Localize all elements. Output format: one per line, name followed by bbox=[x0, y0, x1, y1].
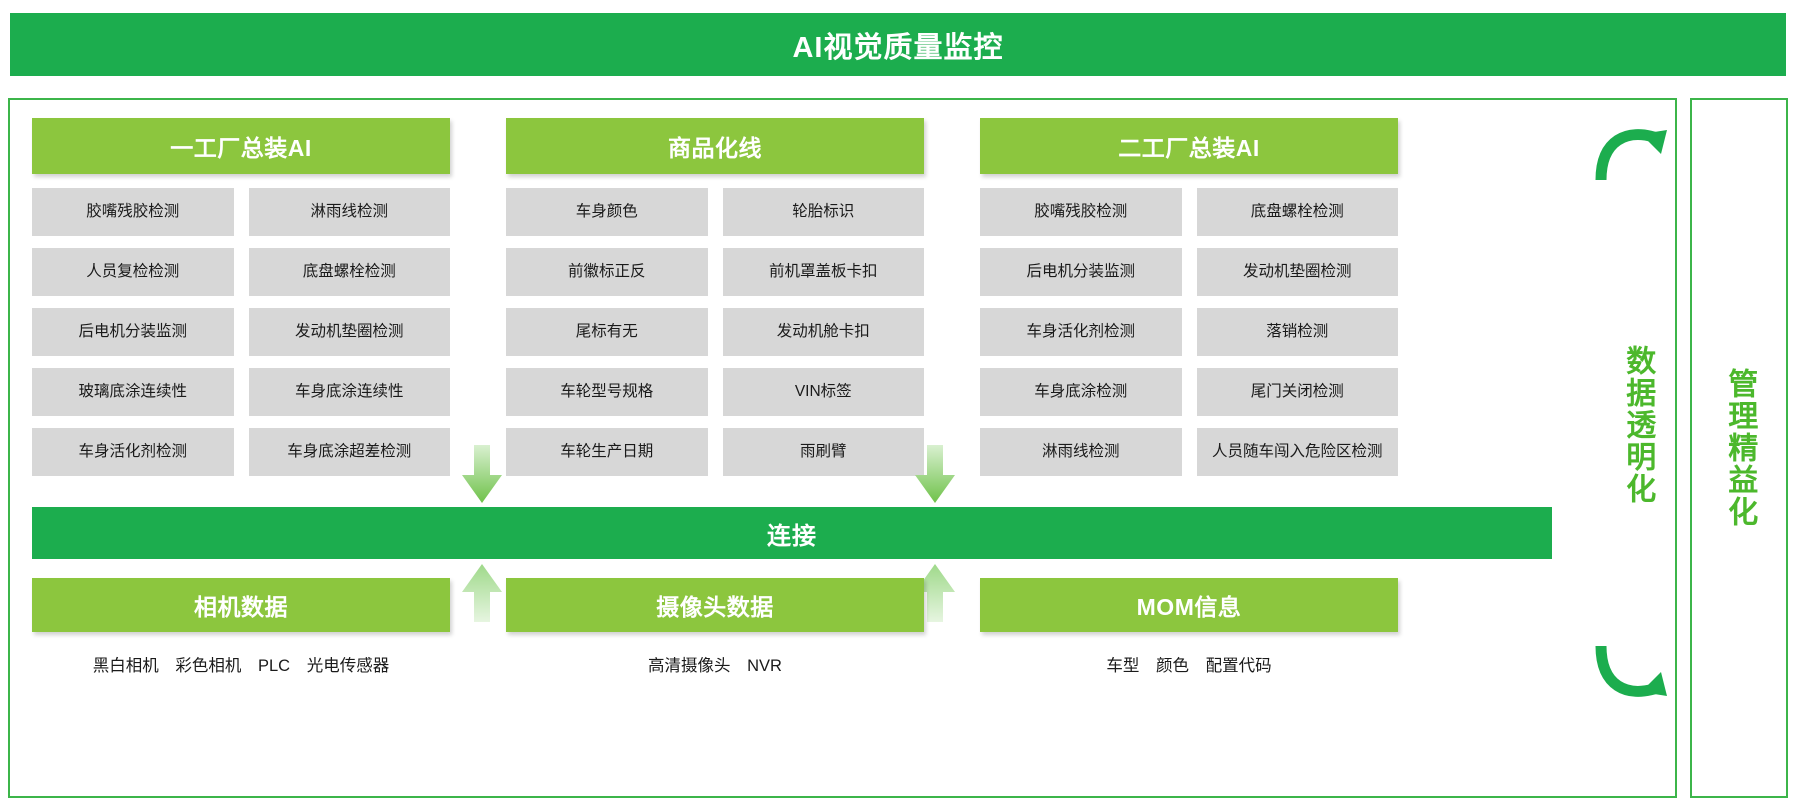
detection-cell[interactable]: 人员复检检测 bbox=[32, 248, 234, 296]
column-factory-two: 二工厂总装AI 胶嘴残胶检测 底盘螺栓检测 后电机分装监测 发动机垫圈检测 车身… bbox=[980, 118, 1398, 476]
detection-cell[interactable]: 底盘螺栓检测 bbox=[1197, 188, 1399, 236]
source-title: 相机数据 bbox=[194, 588, 288, 622]
detection-cell[interactable]: 雨刷臂 bbox=[723, 428, 925, 476]
column-factory-one: 一工厂总装AI 胶嘴残胶检测 淋雨线检测 人员复检检测 底盘螺栓检测 后电机分装… bbox=[32, 118, 450, 476]
detection-cell[interactable]: 车轮型号规格 bbox=[506, 368, 708, 416]
source-mom-information: MOM信息 车型 颜色 配置代码 bbox=[980, 578, 1398, 676]
detection-cell[interactable]: 落销检测 bbox=[1197, 308, 1399, 356]
arrow-down-icon bbox=[915, 445, 955, 503]
source-item: PLC bbox=[258, 657, 290, 675]
detection-cell[interactable]: 车身底涂检测 bbox=[980, 368, 1182, 416]
source-item-list: 高清摄像头 NVR bbox=[506, 652, 924, 676]
detection-cell[interactable]: VIN标签 bbox=[723, 368, 925, 416]
detection-cell[interactable]: 发动机舱卡扣 bbox=[723, 308, 925, 356]
source-item: 颜色 bbox=[1156, 657, 1189, 675]
column-title: 商品化线 bbox=[668, 129, 762, 163]
column-commercialization-line: 商品化线 车身颜色 轮胎标识 前徽标正反 前机罩盖板卡扣 尾标有无 发动机舱卡扣… bbox=[506, 118, 924, 476]
detection-cell[interactable]: 淋雨线检测 bbox=[980, 428, 1182, 476]
curved-arrow-bottom-icon bbox=[1593, 642, 1667, 704]
source-header-camera-data[interactable]: 相机数据 bbox=[32, 578, 450, 632]
source-title: MOM信息 bbox=[1137, 588, 1242, 622]
connect-bar-label: 连接 bbox=[767, 516, 817, 551]
source-title: 摄像头数据 bbox=[656, 588, 774, 622]
detection-cell[interactable]: 车身底涂超差检测 bbox=[249, 428, 451, 476]
source-item-list: 黑白相机 彩色相机 PLC 光电传感器 bbox=[32, 652, 450, 676]
source-item: 彩色相机 bbox=[175, 657, 241, 675]
cell-grid-factory-one: 胶嘴残胶检测 淋雨线检测 人员复检检测 底盘螺栓检测 后电机分装监测 发动机垫圈… bbox=[32, 188, 450, 476]
detection-cell[interactable]: 轮胎标识 bbox=[723, 188, 925, 236]
data-transparency-label: 数据透明化 bbox=[1609, 275, 1665, 575]
curved-arrow-top-icon bbox=[1593, 122, 1667, 184]
cell-grid-factory-two: 胶嘴残胶检测 底盘螺栓检测 后电机分装监测 发动机垫圈检测 车身活化剂检测 落销… bbox=[980, 188, 1398, 476]
source-item: NVR bbox=[747, 657, 782, 675]
detection-cell[interactable]: 车轮生产日期 bbox=[506, 428, 708, 476]
data-sources: 相机数据 黑白相机 彩色相机 PLC 光电传感器 摄像头数据 高清摄像头 NVR bbox=[32, 578, 1552, 676]
detection-cell[interactable]: 发动机垫圈检测 bbox=[1197, 248, 1399, 296]
column-title: 二工厂总装AI bbox=[1118, 129, 1260, 163]
detection-cell[interactable]: 后电机分装监测 bbox=[32, 308, 234, 356]
page-title: AI视觉质量监控 bbox=[792, 24, 1003, 66]
detection-cell[interactable]: 前机罩盖板卡扣 bbox=[723, 248, 925, 296]
source-video-camera-data: 摄像头数据 高清摄像头 NVR bbox=[506, 578, 924, 676]
main-frame: 数据透明化 一工厂总装AI 胶嘴残胶检测 淋雨线检测 人员复检检测 底盘螺栓检测… bbox=[8, 98, 1677, 798]
detection-cell[interactable]: 尾标有无 bbox=[506, 308, 708, 356]
source-item: 车型 bbox=[1106, 657, 1139, 675]
detection-cell[interactable]: 发动机垫圈检测 bbox=[249, 308, 451, 356]
column-header-factory-two[interactable]: 二工厂总装AI bbox=[980, 118, 1398, 174]
cell-grid-commercialization-line: 车身颜色 轮胎标识 前徽标正反 前机罩盖板卡扣 尾标有无 发动机舱卡扣 车轮型号… bbox=[506, 188, 924, 476]
detection-cell[interactable]: 车身活化剂检测 bbox=[32, 428, 234, 476]
diagram-page: AI视觉质量监控 数据透明化 一工厂总装AI 胶嘴残胶检测 bbox=[0, 0, 1796, 806]
detection-cell[interactable]: 底盘螺栓检测 bbox=[249, 248, 451, 296]
column-header-commercialization-line[interactable]: 商品化线 bbox=[506, 118, 924, 174]
detection-cell[interactable]: 胶嘴残胶检测 bbox=[32, 188, 234, 236]
source-item: 黑白相机 bbox=[93, 657, 159, 675]
arrow-down-icon bbox=[462, 445, 502, 503]
source-item: 高清摄像头 bbox=[648, 657, 731, 675]
detection-cell[interactable]: 人员随车闯入危险区检测 bbox=[1197, 428, 1399, 476]
detection-cell[interactable]: 后电机分装监测 bbox=[980, 248, 1182, 296]
column-title: 一工厂总装AI bbox=[170, 129, 312, 163]
data-transparency-text: 数据透明化 bbox=[1619, 345, 1656, 505]
page-title-banner: AI视觉质量监控 bbox=[10, 13, 1786, 76]
detection-cell[interactable]: 车身颜色 bbox=[506, 188, 708, 236]
management-frame: 管理精益化 bbox=[1690, 98, 1788, 798]
source-camera-data: 相机数据 黑白相机 彩色相机 PLC 光电传感器 bbox=[32, 578, 450, 676]
detection-cell[interactable]: 车身底涂连续性 bbox=[249, 368, 451, 416]
detection-columns: 一工厂总装AI 胶嘴残胶检测 淋雨线检测 人员复检检测 底盘螺栓检测 后电机分装… bbox=[32, 118, 1552, 476]
detection-cell[interactable]: 车身活化剂检测 bbox=[980, 308, 1182, 356]
source-header-video-camera-data[interactable]: 摄像头数据 bbox=[506, 578, 924, 632]
management-efficiency-text: 管理精益化 bbox=[1721, 368, 1758, 528]
source-item: 光电传感器 bbox=[307, 657, 390, 675]
detection-cell[interactable]: 胶嘴残胶检测 bbox=[980, 188, 1182, 236]
detection-cell[interactable]: 尾门关闭检测 bbox=[1197, 368, 1399, 416]
source-item: 配置代码 bbox=[1206, 657, 1272, 675]
column-header-factory-one[interactable]: 一工厂总装AI bbox=[32, 118, 450, 174]
source-header-mom-information[interactable]: MOM信息 bbox=[980, 578, 1398, 632]
detection-cell[interactable]: 玻璃底涂连续性 bbox=[32, 368, 234, 416]
source-item-list: 车型 颜色 配置代码 bbox=[980, 652, 1398, 676]
detection-cell[interactable]: 淋雨线检测 bbox=[249, 188, 451, 236]
detection-cell[interactable]: 前徽标正反 bbox=[506, 248, 708, 296]
connect-bar[interactable]: 连接 bbox=[32, 507, 1552, 559]
